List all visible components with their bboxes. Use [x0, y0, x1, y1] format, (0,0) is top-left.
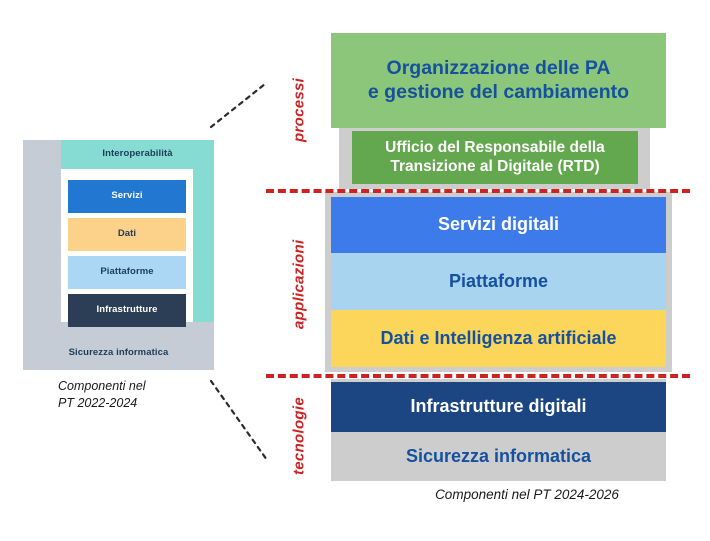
block-rtd-line2: Transizione al Digitale (RTD) — [385, 158, 605, 177]
left-model-sicurezza-informatica-label: Sicurezza informatica — [23, 337, 214, 370]
block-infrastrutture-digitali: Infrastrutture digitali — [331, 382, 666, 432]
left-model-caption: Componenti nel PT 2022-2024 — [58, 378, 218, 412]
block-dati-ia-label: Dati e Intelligenza artificiale — [380, 328, 616, 350]
diagram-canvas: Interoperabilità Servizi Dati Piattaform… — [0, 0, 710, 541]
block-infrastrutture-digitali-label: Infrastrutture digitali — [410, 396, 586, 418]
block-piattaforme-label: Piattaforme — [449, 271, 548, 293]
band-label-processi: processi — [288, 40, 310, 180]
block-organizzazione-delle-pa: Organizzazione delle PA e gestione del c… — [331, 33, 666, 128]
block-ufficio-rtd: Ufficio del Responsabile della Transizio… — [352, 131, 638, 184]
block-servizi-digitali: Servizi digitali — [331, 197, 666, 253]
left-model-item-servizi: Servizi — [68, 180, 186, 213]
block-organizzazione-line2: e gestione del cambiamento — [368, 81, 629, 104]
left-model-caption-line1: Componenti nel — [58, 378, 218, 395]
block-sicurezza-informatica-label: Sicurezza informatica — [406, 446, 591, 468]
block-piattaforme: Piattaforme — [331, 253, 666, 310]
divider-processi-applicazioni — [266, 189, 690, 193]
block-rtd-line1: Ufficio del Responsabile della — [385, 139, 605, 158]
left-model-item-piattaforme: Piattaforme — [68, 256, 186, 289]
divider-applicazioni-tecnologie — [266, 374, 690, 378]
band-label-tecnologie: tecnologie — [288, 388, 310, 483]
band-label-applicazioni: applicazioni — [288, 202, 310, 367]
connector-line-top — [205, 78, 275, 133]
left-model-interoperabilita-label: Interoperabilità — [61, 140, 214, 169]
block-dati-e-intelligenza-artificiale: Dati e Intelligenza artificiale — [331, 310, 666, 367]
left-model-caption-line2: PT 2022-2024 — [58, 395, 218, 412]
block-servizi-digitali-label: Servizi digitali — [438, 214, 559, 236]
left-model-item-dati: Dati — [68, 218, 186, 251]
block-organizzazione-line1: Organizzazione delle PA — [368, 57, 629, 80]
block-sicurezza-informatica: Sicurezza informatica — [331, 432, 666, 481]
right-model-caption: Componenti nel PT 2024-2026 — [392, 487, 662, 502]
left-model-item-infrastrutture: Infrastrutture — [68, 294, 186, 327]
